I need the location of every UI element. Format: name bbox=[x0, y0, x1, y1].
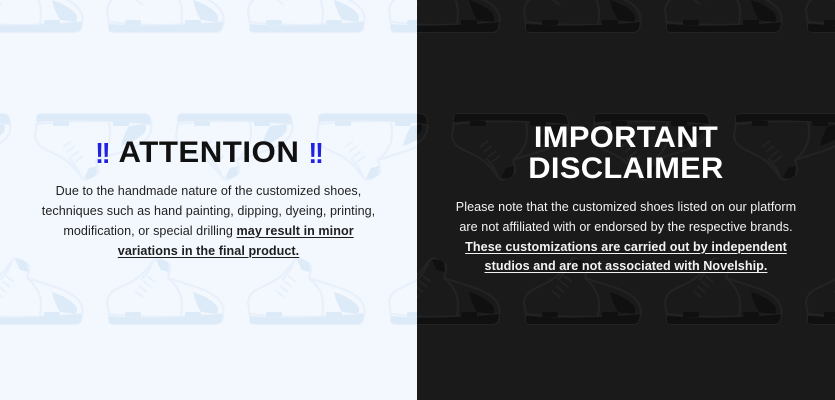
disclaimer-body-text: Please note that the customized shoes li… bbox=[451, 198, 801, 277]
sneaker-icon bbox=[242, 0, 370, 40]
disclaimer-banner: !! ATTENTION !! Due to the handmade natu… bbox=[0, 0, 835, 400]
sneaker-icon bbox=[0, 252, 88, 332]
attention-content: !! ATTENTION !! Due to the handmade natu… bbox=[0, 138, 417, 262]
sneaker-icon bbox=[383, 0, 417, 40]
disclaimer-heading-line1: IMPORTANT bbox=[446, 123, 807, 154]
sneaker-icon bbox=[518, 0, 646, 40]
exclamation-left-icon: !! bbox=[95, 139, 108, 168]
sneaker-icon bbox=[659, 0, 787, 40]
sneaker-icon bbox=[101, 252, 229, 332]
sneaker-icon bbox=[383, 252, 417, 332]
disclaimer-content: IMPORTANT DISCLAIMER Please note that th… bbox=[417, 123, 835, 277]
sneaker-icon bbox=[417, 0, 505, 40]
attention-body-text: Due to the handmade nature of the custom… bbox=[34, 182, 383, 262]
disclaimer-body-emphasis: These customizations are carried out by … bbox=[465, 240, 787, 274]
disclaimer-heading-line2: DISCLAIMER bbox=[446, 154, 807, 185]
sneaker-icon bbox=[800, 0, 835, 40]
disclaimer-panel: IMPORTANT DISCLAIMER Please note that th… bbox=[417, 0, 835, 400]
sneaker-icon bbox=[101, 0, 229, 40]
sneaker-icon bbox=[0, 0, 88, 40]
exclamation-right-icon: !! bbox=[308, 139, 321, 168]
disclaimer-heading: IMPORTANT DISCLAIMER bbox=[451, 123, 801, 184]
attention-panel: !! ATTENTION !! Due to the handmade natu… bbox=[0, 0, 417, 400]
disclaimer-body-normal: Please note that the customized shoes li… bbox=[456, 200, 796, 234]
attention-heading: !! ATTENTION !! bbox=[34, 138, 383, 168]
attention-title-text: ATTENTION bbox=[118, 138, 299, 168]
sneaker-icon bbox=[242, 252, 370, 332]
